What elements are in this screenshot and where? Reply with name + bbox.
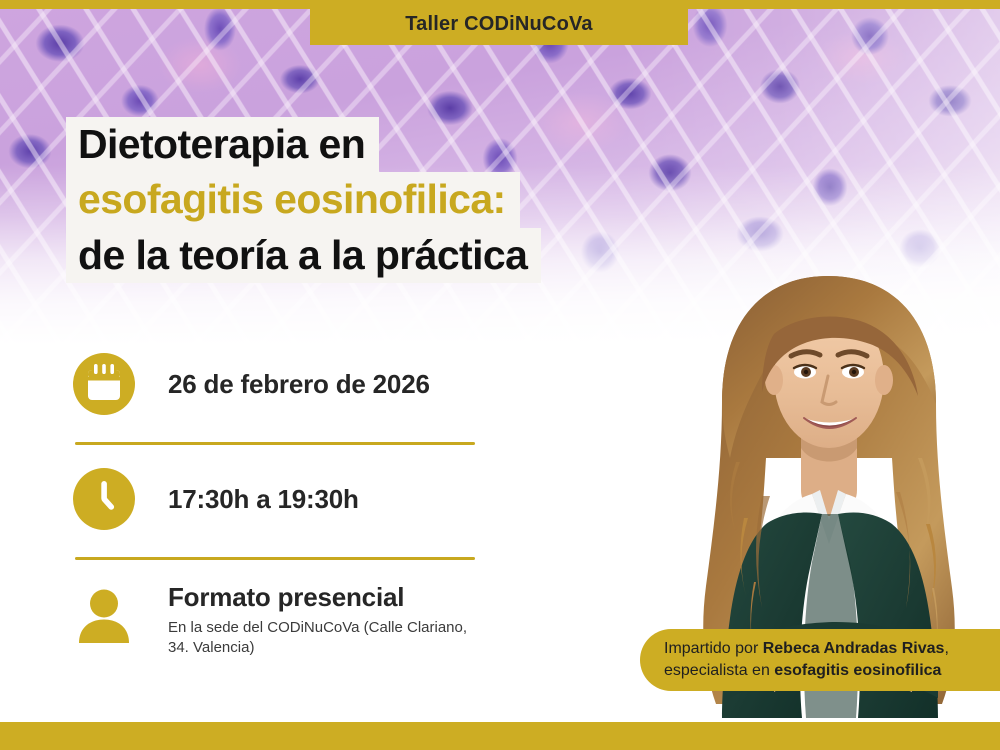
speaker-name: Rebeca Andradas Rivas <box>763 640 945 657</box>
event-format-subtitle: En la sede del CODiNuCoVa (Calle Clarian… <box>168 618 468 658</box>
divider-1 <box>75 442 475 445</box>
bottom-gold-bar <box>0 722 1000 750</box>
speaker-banner: Impartido por Rebeca Andradas Rivas, esp… <box>640 629 1000 691</box>
detail-row-format: Formato presencial En la sede del CODiNu… <box>72 582 492 658</box>
speaker-prefix: Impartido por <box>664 640 763 657</box>
detail-row-date: 26 de febrero de 2026 <box>72 352 492 416</box>
event-time-value: 17:30h a 19:30h <box>168 484 359 514</box>
workshop-tab: Taller CODiNuCoVa <box>310 0 688 45</box>
title-line-1: Dietoterapia en <box>66 117 379 172</box>
event-date-value: 26 de febrero de 2026 <box>168 369 430 399</box>
poster-canvas: Taller CODiNuCoVa Dietoterapia en esofag… <box>0 0 1000 750</box>
divider-2 <box>75 557 475 560</box>
workshop-tab-label: Taller CODiNuCoVa <box>405 12 593 34</box>
clock-icon <box>72 467 136 531</box>
page-title: Dietoterapia en esofagitis eosinofilica:… <box>66 117 666 283</box>
speaker-credit: Impartido por Rebeca Andradas Rivas, esp… <box>664 638 984 681</box>
event-format-title: Formato presencial <box>168 582 468 613</box>
detail-text-date: 26 de febrero de 2026 <box>168 369 430 400</box>
title-line-2: esofagitis eosinofilica: <box>66 172 520 227</box>
detail-row-time: 17:30h a 19:30h <box>72 467 492 531</box>
detail-text-time: 17:30h a 19:30h <box>168 484 359 515</box>
title-line-3: de la teoría a la práctica <box>66 228 541 283</box>
detail-text-format: Formato presencial En la sede del CODiNu… <box>168 582 468 658</box>
speaker-topic: esofagitis eosinofilica <box>774 662 941 679</box>
person-icon <box>72 584 136 648</box>
calendar-icon <box>72 352 136 416</box>
event-details: 26 de febrero de 2026 17:30h a 19:30h <box>72 352 492 658</box>
